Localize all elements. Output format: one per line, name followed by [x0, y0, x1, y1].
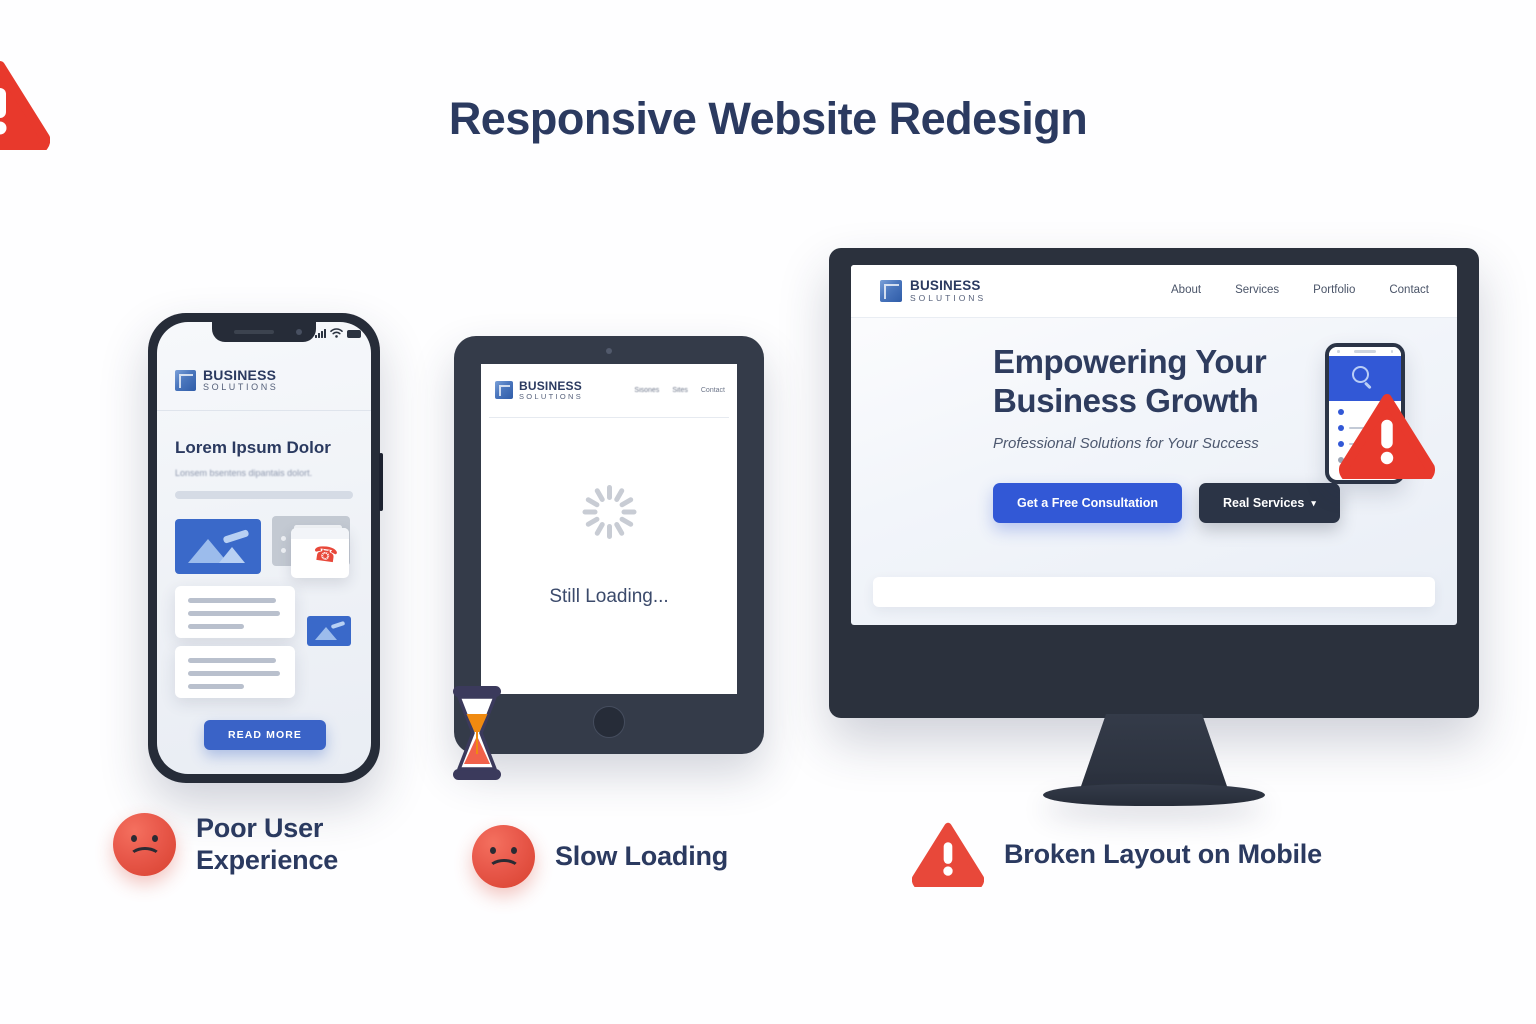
hero-subtitle: Professional Solutions for Your Success: [993, 435, 1259, 452]
phone-white-card: ☎: [291, 528, 349, 578]
caption-label: Slow Loading: [555, 840, 728, 872]
desktop-brand-logo: BUSINESS SOLUTIONS: [880, 279, 986, 302]
phone-screen: BUSINESS SOLUTIONS Lorem Ipsum Dolor Lon…: [157, 322, 371, 774]
caption-poor-user-experience: Poor User Experience: [113, 812, 443, 877]
monitor-screen: BUSINESS SOLUTIONS About Services Portfo…: [851, 265, 1457, 625]
caption-slow-loading: Slow Loading: [472, 825, 728, 888]
website-nav: About Services Portfolio Contact: [1171, 284, 1429, 296]
phone-text-card: [175, 646, 295, 698]
blue-square-logo-icon: [495, 381, 513, 399]
phone-image-placeholder-small: [307, 616, 351, 646]
read-more-button[interactable]: READ MORE: [204, 720, 326, 750]
nav-item-contact[interactable]: Contact: [1389, 284, 1429, 296]
tablet-brand-logo: BUSINESS SOLUTIONS: [495, 380, 583, 401]
caption-label: Broken Layout on Mobile: [1004, 838, 1322, 870]
tablet-nav-item[interactable]: Sisones: [634, 387, 659, 394]
caption-broken-layout: Broken Layout on Mobile: [912, 822, 1322, 887]
tablet-divider: [489, 417, 729, 418]
loading-spinner-icon: [582, 485, 636, 539]
phone-image-placeholder: [175, 519, 261, 574]
website-header: BUSINESS SOLUTIONS About Services Portfo…: [851, 265, 1457, 318]
phone-notch: [212, 322, 316, 342]
sad-face-icon: [472, 825, 535, 888]
tablet-nav: Sisones Sites Contact: [634, 387, 725, 394]
phone-camera-icon: [296, 329, 302, 335]
illustration-canvas: Responsive Website Redesign BU: [0, 0, 1536, 1024]
hero-heading-line-2: Business Growth: [993, 382, 1266, 421]
warning-triangle-icon: [912, 822, 984, 887]
warning-triangle-icon: [1339, 393, 1435, 484]
brand-line-1: BUSINESS: [203, 368, 278, 382]
tablet-camera-icon: [606, 348, 612, 354]
services-dropdown-button[interactable]: Real Services ▾: [1199, 483, 1340, 523]
monitor-stand: [1079, 714, 1229, 792]
hero-button-group: Get a Free Consultation Real Services ▾: [993, 483, 1340, 523]
nav-item-portfolio[interactable]: Portfolio: [1313, 284, 1355, 296]
phone-heading: Lorem Ipsum Dolor: [175, 438, 331, 458]
tablet-screen: BUSINESS SOLUTIONS Sisones Sites Contact…: [481, 364, 737, 694]
get-free-consultation-button[interactable]: Get a Free Consultation: [993, 483, 1182, 523]
desktop-monitor-mockup: BUSINESS SOLUTIONS About Services Portfo…: [829, 248, 1479, 718]
warning-triangle-icon: [0, 60, 50, 155]
services-dropdown-label: Real Services: [1223, 496, 1304, 510]
phone-side-button[interactable]: [379, 453, 383, 511]
nav-item-services[interactable]: Services: [1235, 284, 1279, 296]
caption-label: Poor User Experience: [196, 812, 443, 877]
tablet-nav-item-contact[interactable]: Contact: [701, 387, 725, 394]
tablet-home-button[interactable]: [593, 706, 625, 738]
page-title: Responsive Website Redesign: [0, 93, 1536, 145]
brand-line-2: SOLUTIONS: [203, 383, 278, 392]
phone-speaker: [234, 330, 274, 334]
wifi-icon: [330, 328, 343, 338]
nav-item-about[interactable]: About: [1171, 284, 1201, 296]
monitor-base: [1043, 784, 1265, 806]
blue-square-logo-icon: [175, 370, 196, 391]
phone-divider: [157, 410, 371, 411]
battery-icon: [347, 330, 361, 338]
phone-text-card: [175, 586, 295, 638]
hero-heading: Empowering Your Business Growth: [993, 343, 1266, 420]
tablet-nav-item[interactable]: Sites: [672, 387, 688, 394]
hero-bottom-bar: [873, 577, 1435, 607]
telephone-icon: ☎: [312, 543, 339, 566]
phone-placeholder-bar: [175, 491, 353, 499]
brand-line-1: BUSINESS: [910, 279, 986, 293]
phone-status-bar: [315, 328, 361, 338]
brand-line-2: SOLUTIONS: [519, 393, 583, 401]
hourglass-icon: [450, 684, 504, 782]
hero-heading-line-1: Empowering Your: [993, 343, 1266, 382]
signal-bars-icon: [315, 329, 326, 338]
chevron-down-icon: ▾: [1311, 498, 1316, 509]
mountain-small-icon: [219, 547, 245, 563]
phone-subtitle: Lonsem bsentens dipantais dolort.: [175, 468, 312, 478]
sad-face-icon: [113, 813, 176, 876]
search-icon: [1352, 366, 1369, 383]
blue-square-logo-icon: [880, 280, 902, 302]
tablet-loading-text: Still Loading...: [481, 586, 737, 608]
brand-line-1: BUSINESS: [519, 380, 583, 392]
brand-line-2: SOLUTIONS: [910, 294, 986, 303]
phone-brand-logo: BUSINESS SOLUTIONS: [175, 368, 278, 392]
phone-mockup: BUSINESS SOLUTIONS Lorem Ipsum Dolor Lon…: [148, 313, 380, 783]
